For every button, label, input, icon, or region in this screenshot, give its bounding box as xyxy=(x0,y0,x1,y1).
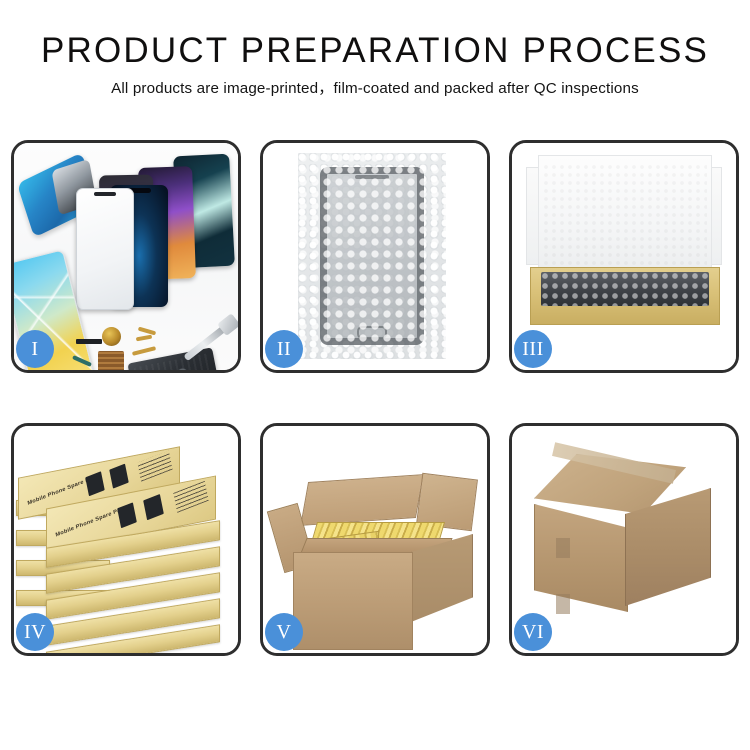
step-badge-5: V xyxy=(265,613,303,651)
step-card-2: II xyxy=(260,140,490,373)
step-badge-2: II xyxy=(265,330,303,368)
carton-handle-tab-top xyxy=(556,538,570,558)
step-badge-4: IV xyxy=(16,613,54,651)
foam-padding-lid xyxy=(538,155,712,279)
box-thumb-1b xyxy=(109,464,129,489)
step-card-4: Mobile Phone Spare Parts Mobile Phone Sp… xyxy=(11,423,241,656)
box-spec-lines-2 xyxy=(173,481,208,513)
step-card-5: V xyxy=(260,423,490,656)
step-badge-3: III xyxy=(514,330,552,368)
part-cable-gold-2 xyxy=(138,327,156,336)
carton-flap-back xyxy=(300,474,424,526)
part-cable-gold-1 xyxy=(132,346,156,356)
box-thumb-2b xyxy=(143,494,164,520)
step-badge-1: I xyxy=(16,330,54,368)
box-thumb-2a xyxy=(117,502,137,528)
part-contact-grid xyxy=(98,351,124,370)
part-cable-gold-3 xyxy=(136,335,152,342)
kraft-inner-box-tray xyxy=(530,267,720,325)
carton-handle-tab-bottom xyxy=(556,594,570,614)
part-flex-cable xyxy=(76,339,102,344)
page-subtitle: All products are image-printed，film-coat… xyxy=(0,81,750,96)
carton-front-panel xyxy=(293,552,413,650)
page-header: PRODUCT PREPARATION PROCESS All products… xyxy=(0,0,750,96)
sealed-carton-left-face xyxy=(534,504,628,612)
box-spec-lines-1 xyxy=(137,451,172,482)
step-card-6: VI xyxy=(509,423,739,656)
step-badge-6: VI xyxy=(514,613,552,651)
step-card-3: III xyxy=(509,140,739,373)
steps-grid: I II III Mobile Phon xyxy=(11,140,740,656)
page-title: PRODUCT PREPARATION PROCESS xyxy=(0,33,750,68)
part-copper-coil xyxy=(102,327,121,346)
phone-front-glass xyxy=(76,188,134,310)
bubble-wrap-overlay xyxy=(298,153,446,359)
step-card-1: I xyxy=(11,140,241,373)
box-thumb-1a xyxy=(85,471,105,496)
